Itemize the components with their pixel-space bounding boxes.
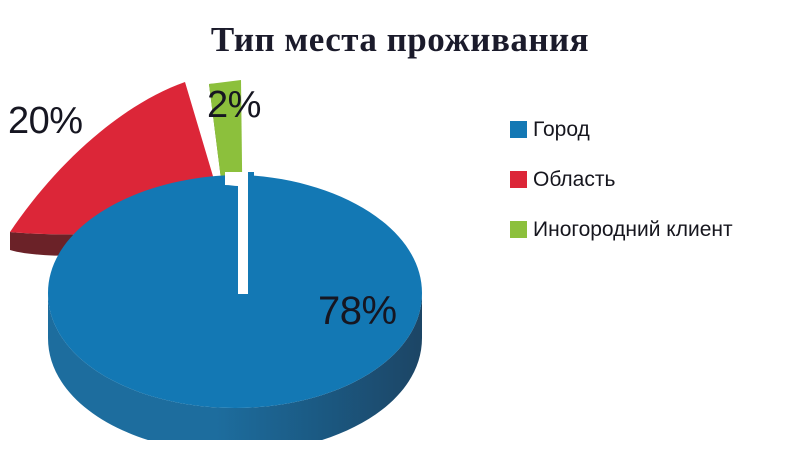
data-label-oblast: 20% bbox=[8, 100, 83, 143]
legend-label-oblast: Область bbox=[533, 169, 615, 190]
pie-slice-gorod-notch-lip bbox=[248, 172, 254, 294]
chart-legend: Город Область Иногородний клиент bbox=[510, 118, 800, 268]
page-title: Тип места проживания bbox=[0, 20, 800, 60]
data-label-inogorodniy: 2% bbox=[207, 84, 261, 127]
legend-swatch-gorod-icon bbox=[510, 121, 527, 138]
chart-page: Тип места проживания bbox=[0, 0, 800, 454]
legend-label-inogorodniy: Иногородний клиент bbox=[533, 219, 733, 240]
legend-swatch-inogorodniy-icon bbox=[510, 221, 527, 238]
legend-label-gorod: Город bbox=[533, 119, 590, 140]
legend-swatch-oblast-icon bbox=[510, 171, 527, 188]
data-label-gorod: 78% bbox=[318, 289, 397, 334]
legend-item-oblast[interactable]: Область bbox=[510, 168, 800, 190]
legend-item-gorod[interactable]: Город bbox=[510, 118, 800, 140]
legend-item-inogorodniy[interactable]: Иногородний клиент bbox=[510, 218, 800, 240]
